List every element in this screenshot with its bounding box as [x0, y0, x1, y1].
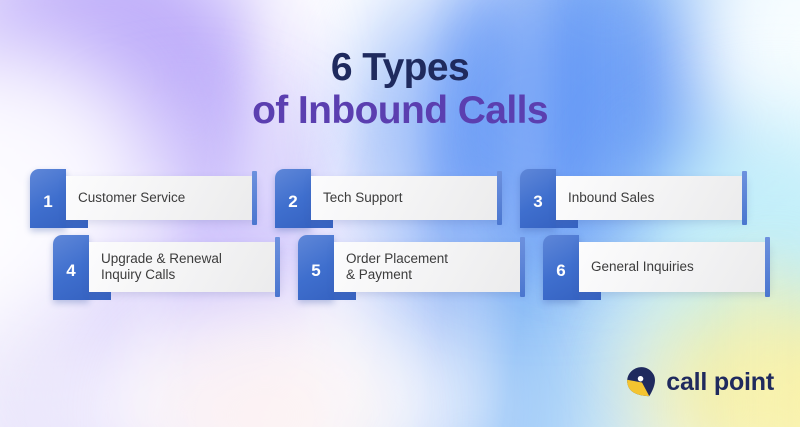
card-body: Order Placement & Payment — [334, 242, 525, 292]
card-label: Upgrade & Renewal Inquiry Calls — [101, 251, 222, 283]
card-label: Customer Service — [78, 190, 185, 206]
card-number-badge: 1 — [30, 169, 66, 228]
card-body: General Inquiries — [579, 242, 770, 292]
page-title-line-1: 6 Types — [0, 46, 800, 89]
card-body: Tech Support — [311, 176, 502, 220]
location-pin-icon — [627, 366, 657, 399]
card-number: 3 — [533, 192, 542, 212]
card-number: 5 — [311, 261, 320, 281]
card-number-badge: 4 — [53, 235, 89, 300]
card-label: Order Placement & Payment — [346, 251, 448, 283]
bg-blob-pink-bottom — [150, 330, 380, 427]
card-accent-bar — [252, 171, 257, 225]
call-type-card[interactable]: 4 Upgrade & Renewal Inquiry Calls — [53, 242, 280, 292]
card-accent-bar — [497, 171, 502, 225]
call-type-row-1: 1 Customer Service 2 Tech Support — [0, 176, 800, 220]
page-title: 6 Types of Inbound Calls — [0, 46, 800, 132]
call-type-list: 1 Customer Service 2 Tech Support — [0, 176, 800, 292]
card-label: Tech Support — [323, 190, 403, 206]
call-type-card[interactable]: 5 Order Placement & Payment — [298, 242, 525, 292]
card-label: Inbound Sales — [568, 190, 654, 206]
call-type-row-2: 4 Upgrade & Renewal Inquiry Calls 5 Orde… — [0, 242, 800, 292]
card-number-badge: 5 — [298, 235, 334, 300]
card-accent-bar — [765, 237, 770, 297]
card-body: Upgrade & Renewal Inquiry Calls — [89, 242, 280, 292]
call-type-card[interactable]: 3 Inbound Sales — [520, 176, 747, 220]
page-title-line-2: of Inbound Calls — [0, 89, 800, 132]
brand-logo: call point — [627, 366, 774, 399]
card-accent-bar — [275, 237, 280, 297]
brand-name: call point — [666, 368, 774, 397]
card-number: 4 — [66, 261, 75, 281]
call-type-card[interactable]: 2 Tech Support — [275, 176, 502, 220]
card-number-badge: 3 — [520, 169, 556, 228]
card-accent-bar — [742, 171, 747, 225]
call-type-card[interactable]: 6 General Inquiries — [543, 242, 770, 292]
infographic-canvas: 6 Types of Inbound Calls 1 Customer Serv… — [0, 0, 800, 427]
card-label: General Inquiries — [591, 259, 694, 275]
card-number: 2 — [288, 192, 297, 212]
bg-blob-yellow — [640, 300, 800, 427]
bg-blob-white-bottom — [40, 300, 500, 427]
card-body: Inbound Sales — [556, 176, 747, 220]
card-body: Customer Service — [66, 176, 257, 220]
call-type-card[interactable]: 1 Customer Service — [30, 176, 257, 220]
card-accent-bar — [520, 237, 525, 297]
card-number: 1 — [43, 192, 52, 212]
card-number: 6 — [556, 261, 565, 281]
card-number-badge: 2 — [275, 169, 311, 228]
card-number-badge: 6 — [543, 235, 579, 300]
